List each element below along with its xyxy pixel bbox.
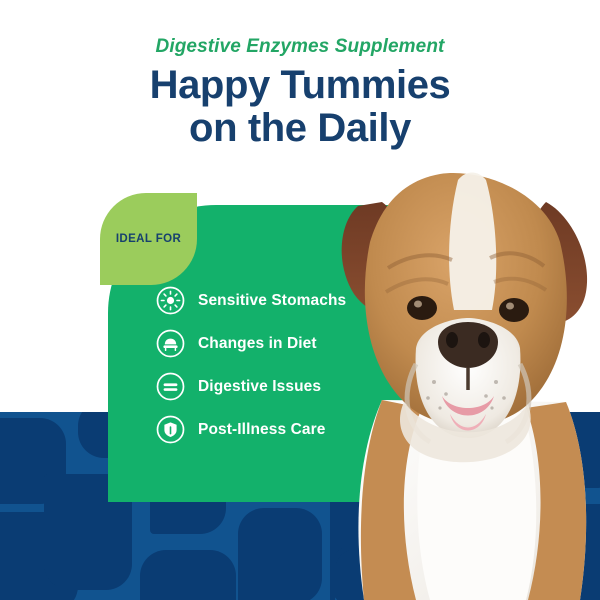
headline-line-1: Happy Tummies (150, 63, 451, 107)
list-item: Post-Illness Care (156, 408, 416, 451)
page-title: Happy Tummies on the Daily (0, 64, 600, 150)
list-item-label: Sensitive Stomachs (198, 292, 346, 310)
food-bowl-icon (156, 329, 185, 358)
list-item-label: Post-Illness Care (198, 421, 325, 439)
list-item: Sensitive Stomachs (156, 279, 416, 322)
headline-line-2: on the Daily (0, 107, 600, 150)
list-item: Changes in Diet (156, 322, 416, 365)
ideal-for-label: IDEAL FOR (116, 233, 181, 245)
list-item: Digestive Issues (156, 365, 416, 408)
promo-banner: IDEAL FOR Digestive Enzymes Supplement H… (0, 0, 600, 600)
equals-bars-icon (156, 372, 185, 401)
shield-icon (156, 415, 185, 444)
list-item-label: Digestive Issues (198, 378, 321, 396)
sun-burst-icon (156, 286, 185, 315)
feature-list: Sensitive Stomachs Changes in Diet (156, 279, 416, 451)
eyebrow-text: Digestive Enzymes Supplement (0, 36, 600, 58)
list-item-label: Changes in Diet (198, 335, 317, 353)
ideal-for-badge: IDEAL FOR (100, 193, 197, 285)
